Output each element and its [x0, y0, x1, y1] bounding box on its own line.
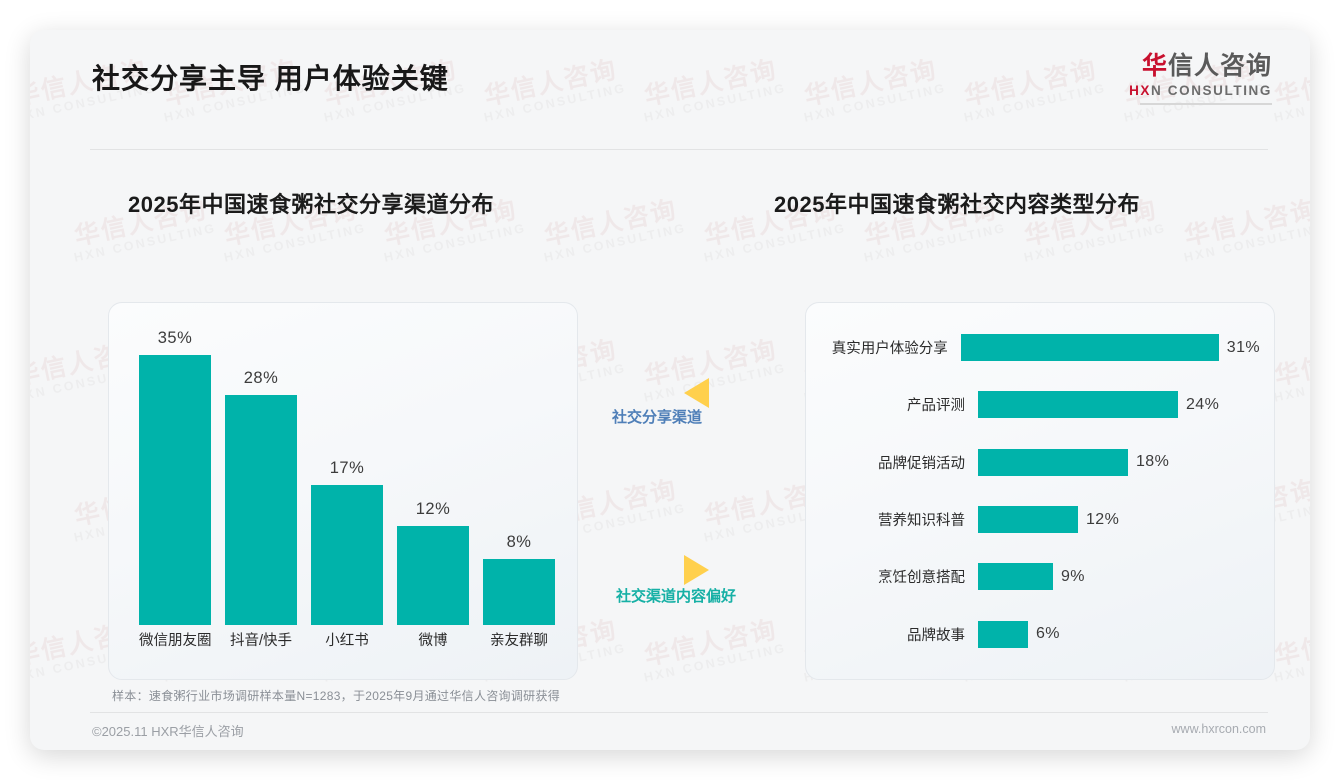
- bar-category-label: 抖音/快手: [225, 629, 297, 650]
- slide-container: 华信人咨询HXN CONSULTING华信人咨询HXN CONSULTING华信…: [30, 30, 1310, 750]
- footnote-sample-note: 样本：速食粥行业市场调研样本量N=1283，于2025年9月通过华信人咨询调研获…: [112, 687, 560, 704]
- bar-category-label: 营养知识科普: [828, 509, 978, 530]
- bar-track: 6%: [978, 621, 1260, 648]
- logo-underline: [1140, 103, 1272, 105]
- right-chart-card: 真实用户体验分享31%产品评测24%品牌促销活动18%营养知识科普12%烹饪创意…: [805, 302, 1275, 680]
- slide-body: 2025年中国速食粥社交分享渠道分布 2025年中国速食粥社交内容类型分布 35…: [30, 150, 1310, 690]
- bar-value-label: 17%: [330, 459, 365, 478]
- left-chart-title: 2025年中国速食粥社交分享渠道分布: [128, 187, 494, 219]
- bar-row[interactable]: 品牌促销活动18%: [828, 448, 1260, 476]
- slide: 华信人咨询HXN CONSULTING华信人咨询HXN CONSULTING华信…: [30, 30, 1310, 750]
- bar-value-label: 6%: [1036, 625, 1060, 643]
- bar-rect[interactable]: [978, 391, 1178, 418]
- bar-row[interactable]: 营养知识科普12%: [828, 506, 1260, 534]
- bar-column[interactable]: 8%: [483, 329, 555, 625]
- bar-category-label: 真实用户体验分享: [828, 337, 961, 358]
- bar-category-label: 微博: [397, 629, 469, 650]
- vertical-bar-axis-labels: 微信朋友圈抖音/快手小红书微博亲友群聊: [139, 629, 555, 659]
- logo-en-rest: N CONSULTING: [1151, 83, 1272, 98]
- bar-value-label: 8%: [507, 533, 532, 552]
- bar-category-label: 烹饪创意搭配: [828, 566, 978, 587]
- bar-row[interactable]: 品牌故事6%: [828, 620, 1260, 648]
- bar-column[interactable]: 12%: [397, 329, 469, 625]
- bar-rect[interactable]: [483, 559, 555, 625]
- triangle-left-icon: [684, 378, 709, 408]
- bar-row[interactable]: 产品评测24%: [828, 391, 1260, 419]
- vertical-bar-columns: 35%28%17%12%8%: [139, 329, 555, 625]
- bar-column[interactable]: 35%: [139, 329, 211, 625]
- bar-row[interactable]: 真实用户体验分享31%: [828, 334, 1260, 362]
- bar-category-label: 品牌故事: [828, 624, 978, 645]
- bar-value-label: 31%: [1227, 339, 1260, 357]
- horizontal-bar-chart: 真实用户体验分享31%产品评测24%品牌促销活动18%营养知识科普12%烹饪创意…: [828, 319, 1260, 663]
- footer-divider: [90, 712, 1268, 713]
- bar-rect[interactable]: [139, 355, 211, 625]
- bar-value-label: 35%: [158, 329, 193, 348]
- bar-value-label: 18%: [1136, 453, 1169, 471]
- bar-rect[interactable]: [961, 334, 1219, 361]
- annotation-bottom-label: 社交渠道内容偏好: [616, 585, 736, 606]
- vertical-bar-chart: 35%28%17%12%8% 微信朋友圈抖音/快手小红书微博亲友群聊: [139, 329, 555, 659]
- bar-track: 9%: [978, 563, 1260, 590]
- bar-track: 24%: [978, 391, 1260, 418]
- bar-category-label: 亲友群聊: [483, 629, 555, 650]
- annotation-top-label: 社交分享渠道: [612, 406, 702, 427]
- bar-track: 18%: [978, 449, 1260, 476]
- bar-column[interactable]: 28%: [225, 329, 297, 625]
- bar-category-label: 品牌促销活动: [828, 452, 978, 473]
- left-chart-card: 35%28%17%12%8% 微信朋友圈抖音/快手小红书微博亲友群聊: [108, 302, 578, 680]
- logo-english-text: HXN CONSULTING: [1129, 83, 1272, 98]
- bar-rect[interactable]: [397, 526, 469, 625]
- bar-category-label: 产品评测: [828, 394, 978, 415]
- bar-row[interactable]: 烹饪创意搭配9%: [828, 563, 1260, 591]
- logo-hua-char: 华: [1142, 52, 1168, 80]
- bar-rect[interactable]: [978, 621, 1028, 648]
- bar-rect[interactable]: [978, 563, 1053, 590]
- bar-value-label: 28%: [244, 369, 279, 388]
- header-divider: [90, 149, 1268, 150]
- bar-rect[interactable]: [978, 506, 1078, 533]
- bar-rect[interactable]: [978, 449, 1128, 476]
- logo-en-red: HX: [1129, 83, 1151, 98]
- footer-website[interactable]: www.hxrcon.com: [1172, 722, 1266, 736]
- bar-value-label: 9%: [1061, 568, 1085, 586]
- bar-value-label: 24%: [1186, 396, 1219, 414]
- bar-value-label: 12%: [416, 500, 451, 519]
- right-chart-title: 2025年中国速食粥社交内容类型分布: [774, 187, 1140, 219]
- slide-header: 社交分享主导 用户体验关键 华信人咨询 HXN CONSULTING: [30, 30, 1310, 120]
- bar-column[interactable]: 17%: [311, 329, 383, 625]
- bar-category-label: 微信朋友圈: [139, 629, 211, 650]
- bar-rect[interactable]: [225, 395, 297, 625]
- footer-copyright: ©2025.11 HXR华信人咨询: [92, 721, 244, 740]
- bar-value-label: 12%: [1086, 511, 1119, 529]
- logo-cn-rest: 信人咨询: [1168, 52, 1272, 80]
- bar-track: 12%: [978, 506, 1260, 533]
- bar-track: 31%: [961, 334, 1260, 361]
- page-title: 社交分享主导 用户体验关键: [92, 57, 449, 97]
- brand-logo: 华信人咨询 HXN CONSULTING: [1129, 53, 1272, 105]
- logo-chinese-text: 华信人咨询: [1129, 53, 1272, 81]
- bar-rect[interactable]: [311, 485, 383, 625]
- bar-category-label: 小红书: [311, 629, 383, 650]
- triangle-right-icon: [684, 555, 709, 585]
